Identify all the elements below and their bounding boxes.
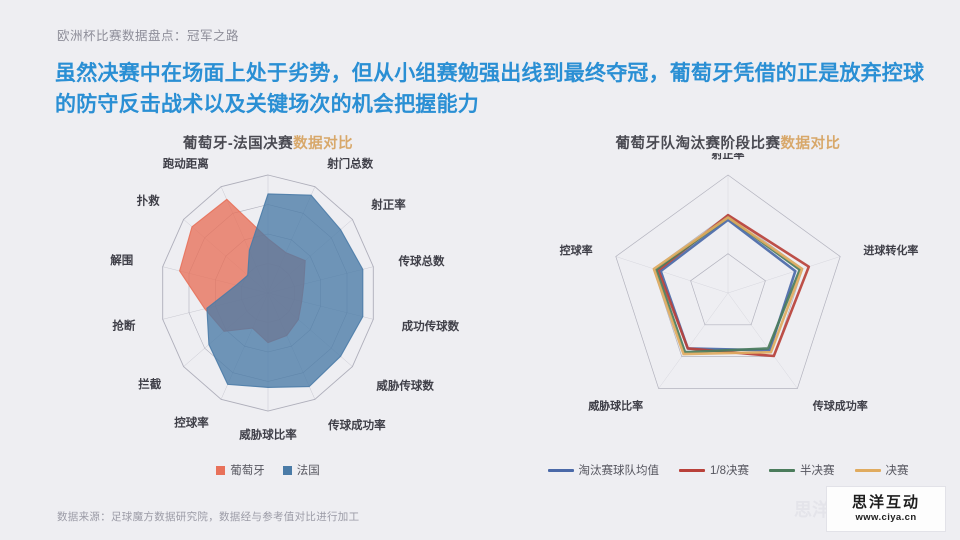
axis-label-11: 解围 [110,253,133,267]
chart-title-right: 葡萄牙队淘汰赛阶段比赛数据对比 [508,132,948,153]
chart-title-left-highlight: 数据对比 [293,136,353,152]
watermark-logo: 思洋互动 www.ciya.cn [826,486,946,532]
axis-label-r-3: 威胁球比率 [588,399,643,413]
legend-final-comparison: 葡萄牙法国 [28,462,508,478]
axis-label-1: 射门总数 [326,156,373,170]
axis-label-r-1: 进球转化率 [863,243,918,257]
legend-swatch-icon [283,466,292,475]
axis-label-8: 控球率 [174,416,209,430]
legend-label: 1/8决赛 [710,462,749,478]
radar-chart-final-comparison: 射正数射门总数射正率传球总数成功传球数威胁传球数传球成功率威胁球比率控球率拦截抢… [28,153,508,453]
legend-swatch-icon [769,469,795,472]
axis-label-r-0: 射正率 [711,153,745,161]
axis-label-13: 跑动距离 [163,156,209,170]
chart-panel-final-comparison: 葡萄牙-法国决赛数据对比 射正数射门总数射正率传球总数成功传球数威胁传球数传球成… [28,132,508,492]
legend-item-1/8决赛[interactable]: 1/8决赛 [679,462,749,478]
chart-title-left-main: 葡萄牙-法国决赛 [183,136,293,152]
legend-item-半决赛[interactable]: 半决赛 [769,462,835,478]
legend-swatch-icon [855,469,881,472]
legend-swatch-icon [679,469,705,472]
legend-knockout-stage: 淘汰赛球队均值1/8决赛半决赛决赛 [508,462,948,478]
chart-title-right-highlight: 数据对比 [781,136,841,152]
axis-label-r-4: 控球率 [560,243,593,257]
legend-label: 决赛 [886,462,909,478]
legend-item-法国[interactable]: 法国 [283,462,320,478]
watermark-ghost: 思洋 [794,496,830,522]
axis-label-r-2: 传球成功率 [812,399,868,413]
legend-swatch-icon [548,469,574,472]
watermark-url: www.ciya.cn [855,513,916,523]
axis-label-9: 拦截 [138,377,161,391]
chart-title-right-main: 葡萄牙队淘汰赛阶段比赛 [616,136,781,152]
slide-canvas: 欧洲杯比赛数据盘点：冠军之路 虽然决赛中在场面上处于劣势，但从小组赛勉强出线到最… [0,0,960,540]
legend-item-淘汰赛球队均值[interactable]: 淘汰赛球队均值 [548,462,660,478]
legend-item-葡萄牙[interactable]: 葡萄牙 [216,462,265,478]
slide-kicker: 欧洲杯比赛数据盘点：冠军之路 [57,25,239,44]
legend-label: 法国 [297,462,320,478]
chart-panel-knockout-stage: 葡萄牙队淘汰赛阶段比赛数据对比 射正率进球转化率传球成功率威胁球比率控球率 淘汰… [508,132,948,492]
source-note: 数据来源：足球魔方数据研究院，数据经与参考值对比进行加工 [57,509,359,524]
legend-swatch-icon [216,466,225,475]
axis-label-2: 射正率 [370,198,406,212]
axis-label-4: 成功传球数 [402,319,460,333]
chart-title-left: 葡萄牙-法国决赛数据对比 [28,132,508,153]
legend-label: 淘汰赛球队均值 [579,462,660,478]
axis-label-12: 扑救 [137,193,160,207]
axis-label-7: 威胁球比率 [239,428,297,442]
legend-label: 葡萄牙 [230,462,265,478]
axis-label-10: 抢断 [112,319,135,333]
axis-label-3: 传球总数 [398,254,445,268]
axis-label-6: 传球成功率 [327,418,386,432]
radar-chart-knockout-stage: 射正率进球转化率传球成功率威胁球比率控球率 [508,153,948,453]
legend-label: 半决赛 [800,462,835,478]
axis-label-5: 威胁传球数 [376,379,434,393]
watermark-brand: 思洋互动 [852,495,920,510]
legend-item-决赛[interactable]: 决赛 [855,462,909,478]
slide-headline: 虽然决赛中在场面上处于劣势，但从小组赛勉强出线到最终夺冠，葡萄牙凭借的正是放弃控… [55,58,935,120]
